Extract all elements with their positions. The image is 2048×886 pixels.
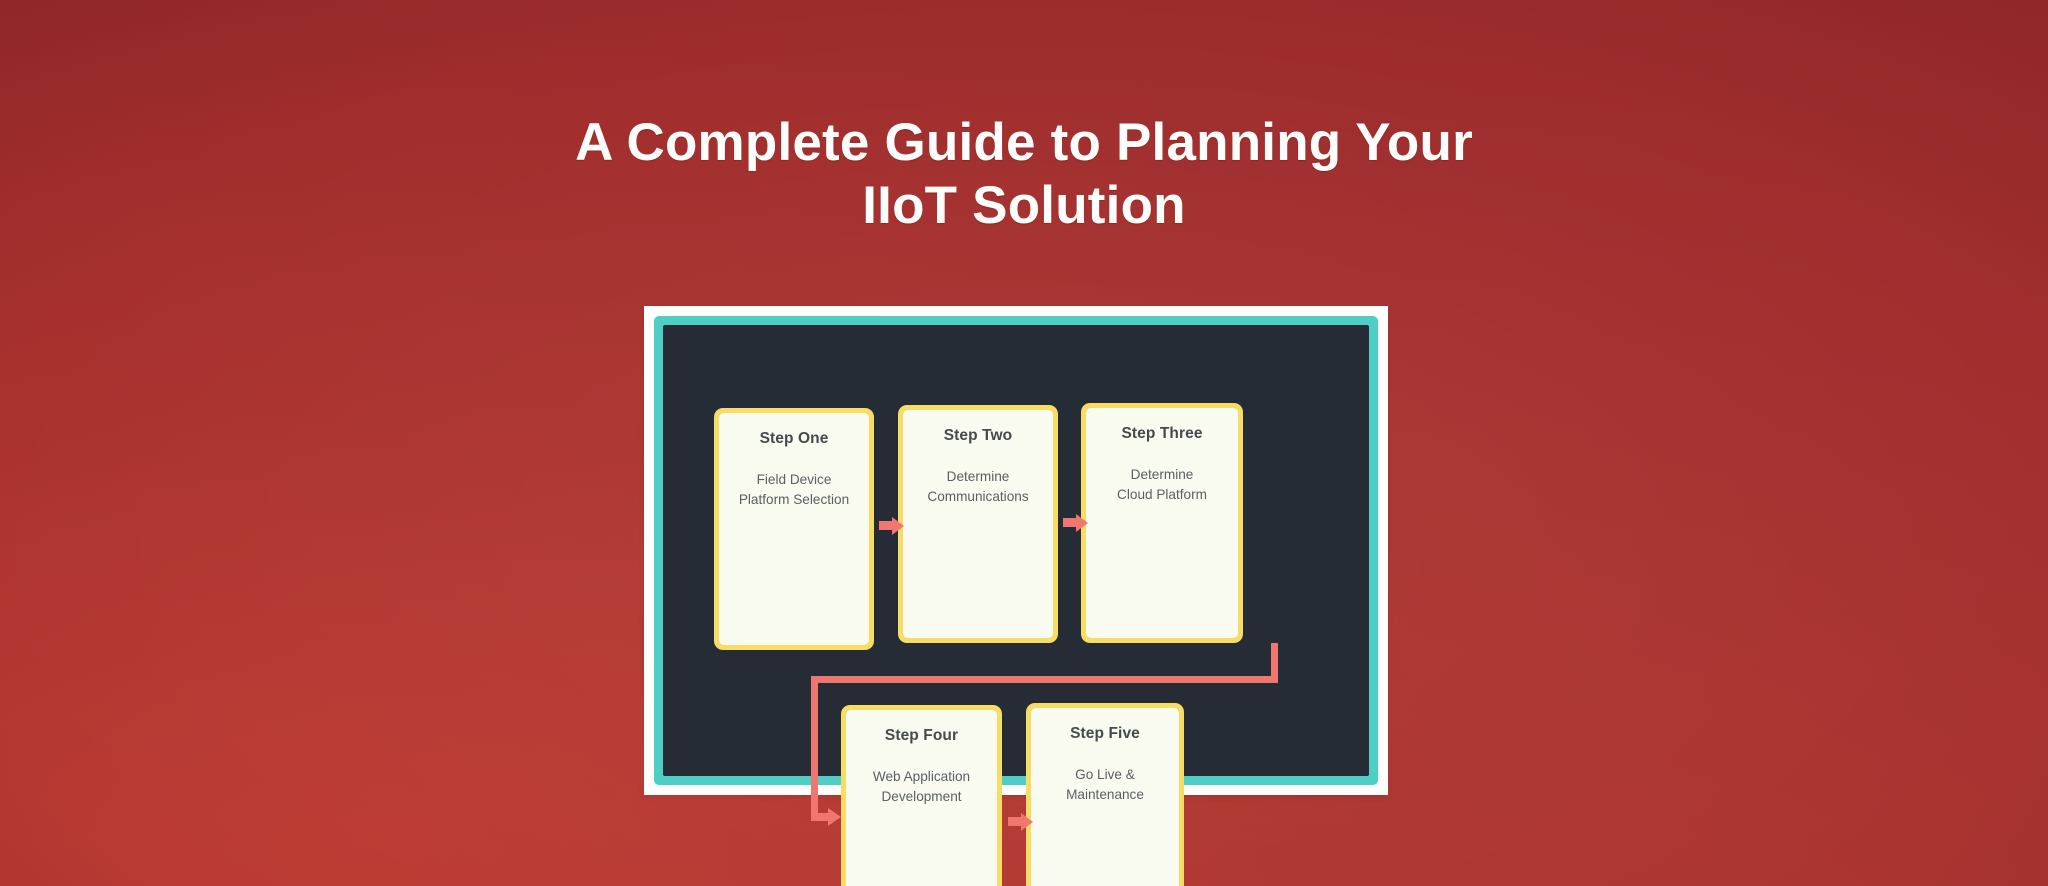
arrow-right-icon-step-one-to-step-two	[879, 521, 893, 530]
node-description: Field Device Platform Selection	[739, 470, 849, 510]
arrow-right-icon-step-two-to-step-three	[1063, 518, 1077, 527]
arrow-right-icon-step-four-to-step-five	[1008, 817, 1022, 826]
node-description: Determine Communications	[927, 467, 1028, 507]
page-title-line-2: IIoT Solution	[0, 175, 2048, 238]
node-description-line-2: Platform Selection	[739, 490, 849, 510]
node-description-line-1: Field Device	[739, 470, 849, 490]
flowchart-node-step-one[interactable]: Step One Field Device Platform Selection	[714, 408, 874, 650]
node-description: Web Application Development	[873, 767, 970, 807]
node-description: Determine Cloud Platform	[1117, 465, 1207, 505]
node-description-line-2: Maintenance	[1066, 785, 1144, 805]
flowchart-node-step-three[interactable]: Step Three Determine Cloud Platform	[1081, 403, 1243, 643]
node-description-line-1: Determine	[927, 467, 1028, 487]
node-description-line-1: Go Live &	[1066, 765, 1144, 785]
page-title-line-1: A Complete Guide to Planning Your	[0, 112, 2048, 175]
node-title: Step Five	[1070, 725, 1140, 743]
node-description-line-2: Cloud Platform	[1117, 485, 1207, 505]
node-description-line-2: Communications	[927, 487, 1028, 507]
node-body: Step Four Web Application Development	[846, 710, 997, 886]
node-description-line-1: Web Application	[873, 767, 970, 787]
node-title: Step Two	[944, 427, 1013, 445]
node-description-line-1: Determine	[1117, 465, 1207, 485]
node-title: Step One	[760, 430, 829, 448]
page-title: A Complete Guide to Planning Your IIoT S…	[0, 112, 2048, 237]
node-title: Step Three	[1121, 425, 1202, 443]
node-body: Step Three Determine Cloud Platform	[1086, 408, 1238, 638]
flowchart-frame: Step One Field Device Platform Selection…	[644, 306, 1388, 795]
flowchart-accent-border: Step One Field Device Platform Selection…	[654, 316, 1378, 785]
node-body: Step Five Go Live & Maintenance	[1031, 708, 1179, 886]
flowchart-node-step-four[interactable]: Step Four Web Application Development	[841, 705, 1002, 886]
flowchart-panel: Step One Field Device Platform Selection…	[663, 325, 1369, 776]
elbow-segment-left	[811, 676, 1278, 683]
flowchart-node-step-two[interactable]: Step Two Determine Communications	[898, 405, 1058, 643]
flowchart-node-step-five[interactable]: Step Five Go Live & Maintenance	[1026, 703, 1184, 886]
node-description-line-2: Development	[873, 787, 970, 807]
node-title: Step Four	[885, 727, 958, 745]
node-description: Go Live & Maintenance	[1066, 765, 1144, 805]
elbow-segment-down-1	[1271, 643, 1278, 683]
node-body: Step One Field Device Platform Selection	[719, 413, 869, 645]
node-body: Step Two Determine Communications	[903, 410, 1053, 638]
